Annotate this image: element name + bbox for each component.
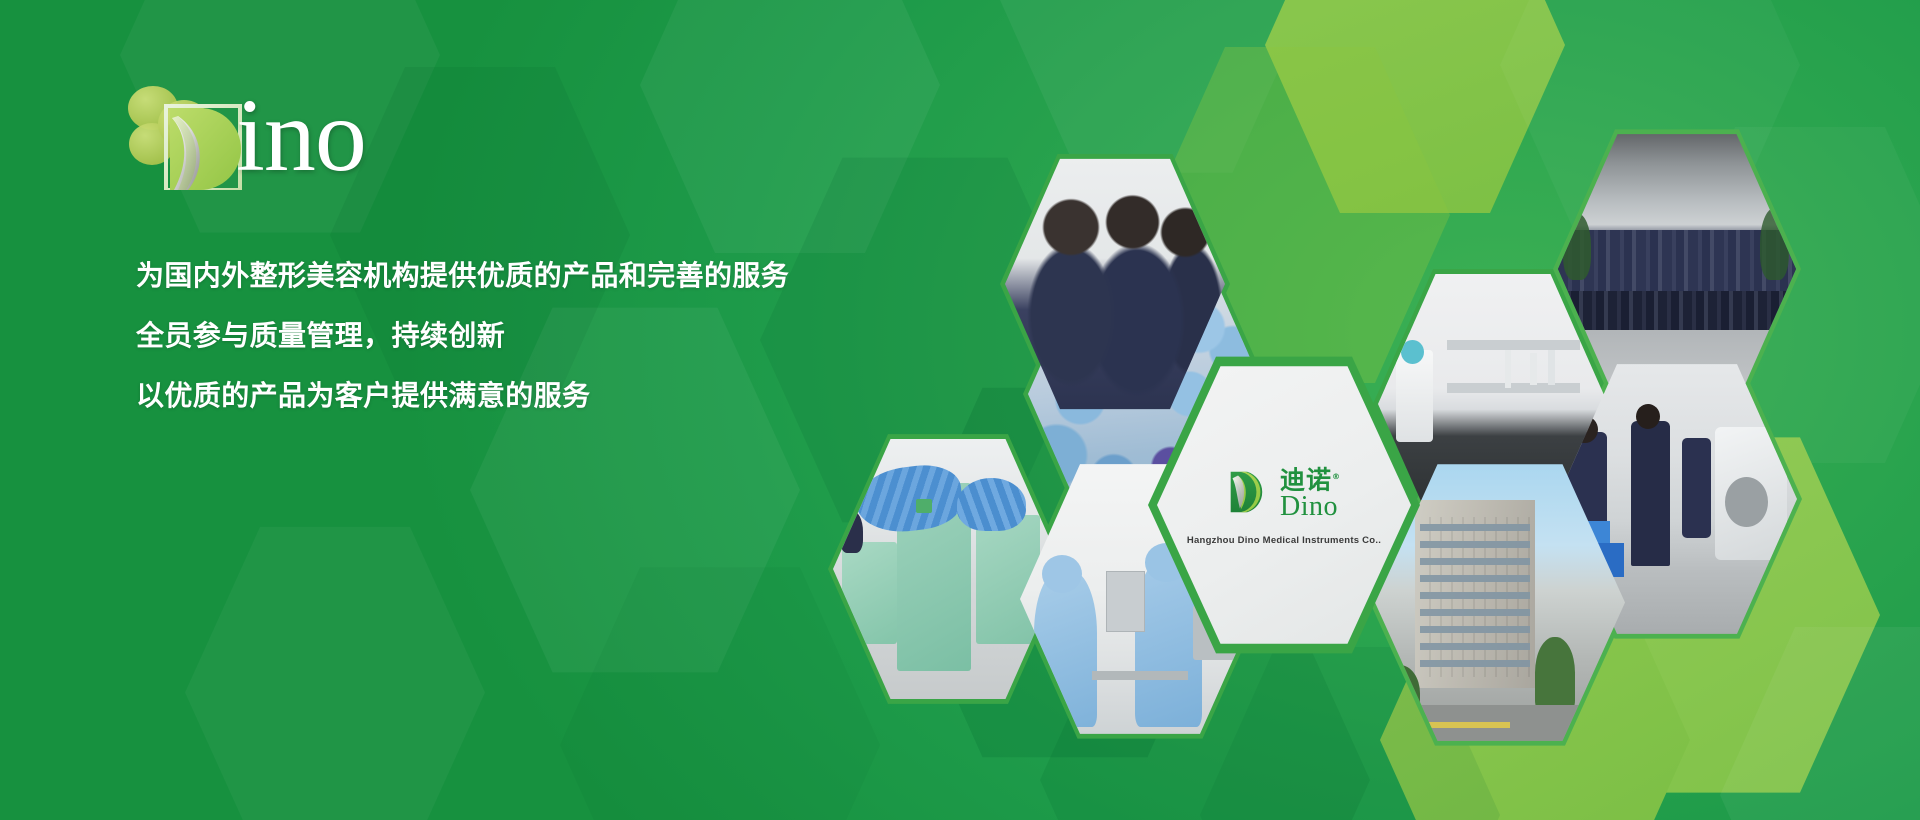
tagline-line-1: 为国内外整形美容机构提供优质的产品和完善的服务 xyxy=(136,260,896,291)
center-brand-name-cn: 迪诺® xyxy=(1280,464,1341,492)
hero-banner: 迪诺® Dino Hangzhou Dino Medical Instrumen… xyxy=(0,0,1920,820)
banner-text-panel: ino 为国内外整形美容机构提供优质的产品和完善的服务 全员参与质量管理，持续创… xyxy=(0,0,900,820)
tagline-line-2: 全员参与质量管理，持续创新 xyxy=(136,320,896,351)
center-brand-lockup: 迪诺® Dino xyxy=(1227,464,1341,519)
registered-mark-icon: ® xyxy=(1332,472,1341,481)
dino-leaf-logo-icon xyxy=(1227,469,1273,515)
center-company-name: Hangzhou Dino Medical Instruments Co.. xyxy=(1187,535,1381,546)
center-brand-name-en: Dino xyxy=(1280,493,1338,520)
brand-logo[interactable]: ino xyxy=(108,72,438,190)
tagline-line-3: 以优质的产品为客户提供满意的服务 xyxy=(136,380,896,411)
tagline-group: 为国内外整形美容机构提供优质的产品和完善的服务 全员参与质量管理，持续创新 以优… xyxy=(136,260,896,440)
brand-wordmark: ino xyxy=(236,84,366,188)
